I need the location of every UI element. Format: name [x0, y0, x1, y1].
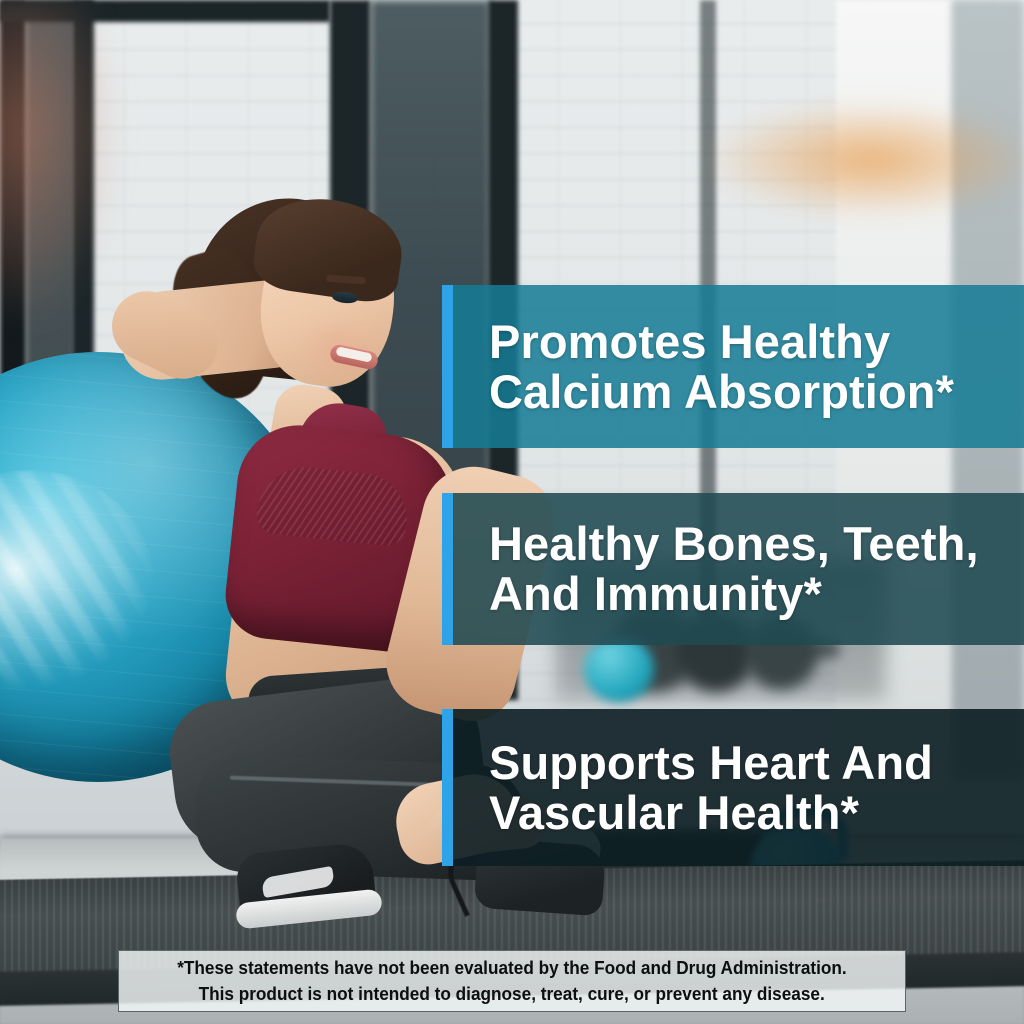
benefit-panel-bones: Healthy Bones, Teeth, And Immunity*: [442, 493, 1024, 645]
benefit-line: Promotes Healthy: [489, 317, 954, 367]
benefit-text-calcium: Promotes Healthy Calcium Absorption*: [453, 317, 962, 417]
accent-bar: [442, 285, 453, 448]
benefit-line: Calcium Absorption*: [489, 367, 954, 417]
benefit-text-bones: Healthy Bones, Teeth, And Immunity*: [453, 519, 987, 619]
disclaimer-line-2: This product is not intended to diagnose…: [199, 981, 825, 1007]
benefit-line: Vascular Health*: [489, 788, 933, 838]
benefit-line: And Immunity*: [489, 569, 979, 619]
marketing-banner: Promotes Healthy Calcium Absorption* Hea…: [0, 0, 1024, 1024]
benefit-line: Healthy Bones, Teeth,: [489, 519, 979, 569]
benefit-panel-calcium: Promotes Healthy Calcium Absorption*: [442, 285, 1024, 448]
benefit-panel-body: Healthy Bones, Teeth, And Immunity*: [453, 493, 1024, 645]
accent-bar: [442, 709, 453, 866]
benefit-panel-body: Promotes Healthy Calcium Absorption*: [453, 285, 1024, 448]
benefit-panel-body: Supports Heart And Vascular Health*: [453, 709, 1024, 866]
benefit-line: Supports Heart And: [489, 738, 933, 788]
disclaimer-line-1: *These statements have not been evaluate…: [177, 955, 847, 981]
fda-disclaimer-box: *These statements have not been evaluate…: [118, 950, 906, 1012]
benefit-panel-heart: Supports Heart And Vascular Health*: [442, 709, 1024, 866]
benefit-text-heart: Supports Heart And Vascular Health*: [453, 738, 941, 838]
accent-bar: [442, 493, 453, 645]
